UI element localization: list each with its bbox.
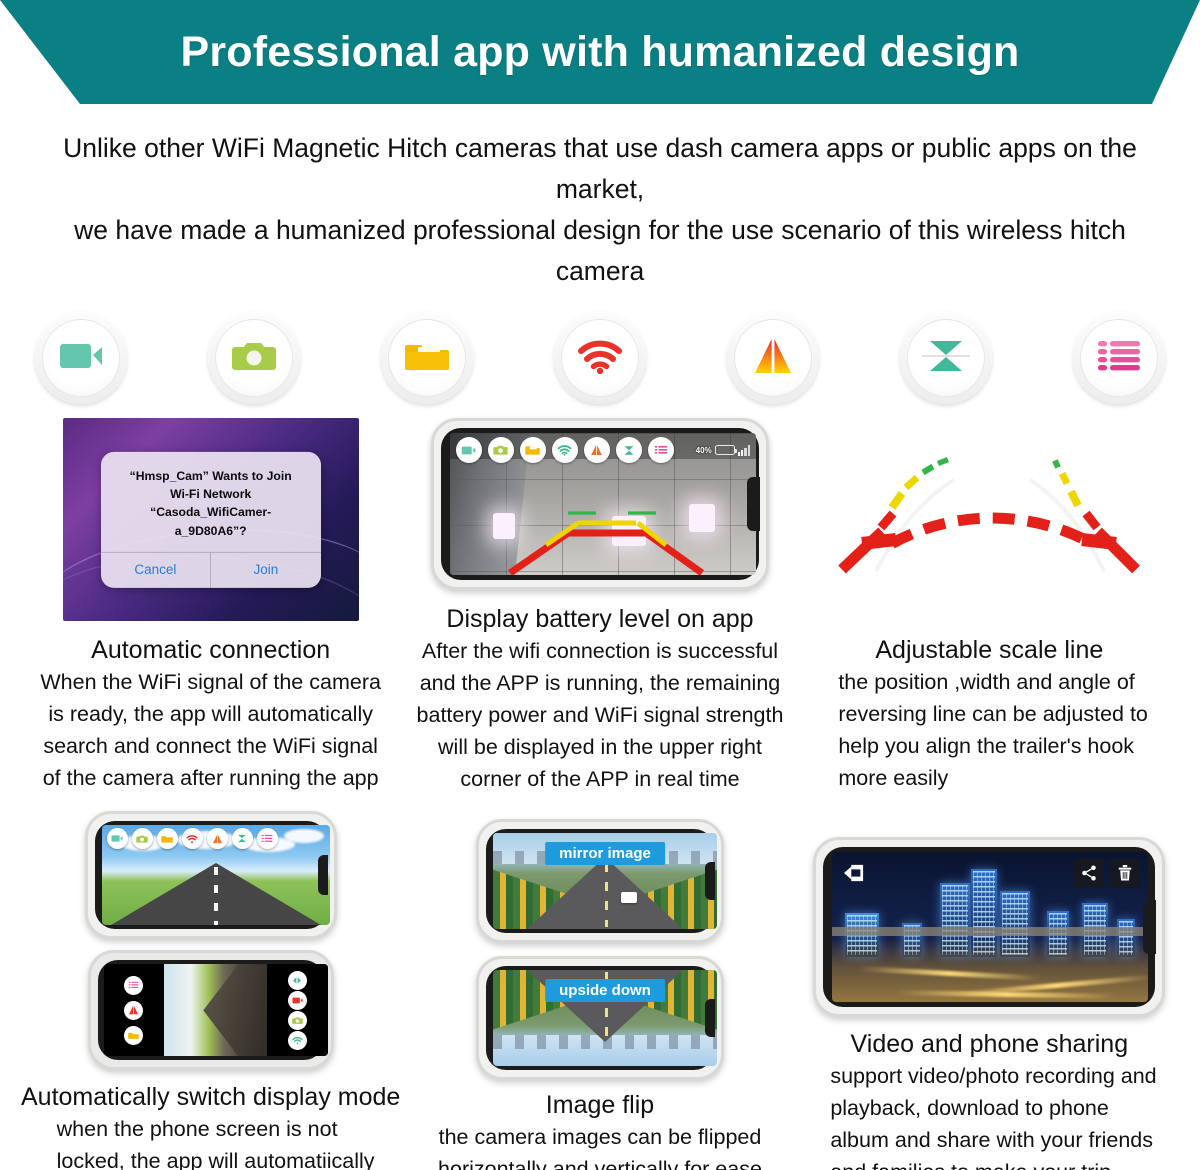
dialog-message-line-4: a_9D80A6”? [111,522,311,540]
phone-live-view: 40% [431,418,769,590]
phone-notch [318,855,328,895]
avenue-camera-image: mirror image [493,833,717,929]
feature-grid-row-2: Automatically switch display mode when t… [20,811,1180,1170]
card-body-video-phone-sharing: support video/photo recording and playba… [814,1061,1164,1170]
mini-scale-line-icon[interactable] [207,828,228,849]
app-icon-strip [102,825,330,852]
mirror-image-label: mirror image [545,842,665,865]
battery-icon [715,445,735,455]
card-body-image-flip: the camera images can be flipped horizon… [435,1122,765,1170]
phone-bezel: mirror image [486,829,714,933]
phone-notch [747,477,760,531]
card-title-display-battery-level: Display battery level on app [446,604,753,634]
card-body-auto-switch-display-mode: when the phone screen is not locked, the… [35,1114,387,1170]
icon-button-scale-line[interactable] [727,312,819,404]
battery-percent-label: 40% [696,446,712,455]
phone-device-mirror-image: mirror image [476,819,724,943]
display-mode-screenshots [85,811,337,1070]
phone-wallpaper: “Hmsp_Cam” Wants to Join Wi-Fi Network “… [63,418,359,621]
road-camera-image [102,825,330,925]
phone-device-playback [813,837,1165,1017]
dialog-message-line-2: Wi-Fi Network [111,485,311,503]
dialog-message-line-3: “Casoda_WifiCamer- [111,503,311,521]
bus-vehicle [621,892,637,903]
feature-icon-row [35,312,1165,404]
mini-wifi-signal-icon[interactable] [182,828,203,849]
left-control-column [104,964,164,1056]
app-icon-strip: 40% [450,433,756,467]
mini-settings-list-icon[interactable] [648,437,674,463]
card-title-auto-switch-display-mode: Automatically switch display mode [21,1082,400,1112]
cancel-button[interactable]: Cancel [101,553,212,588]
status-indicators: 40% [696,445,750,456]
page-title: Professional app with humanized design [180,28,1019,77]
card-auto-switch-display-mode: Automatically switch display mode when t… [20,811,401,1170]
phone-device-portrait-mode [88,950,334,1070]
phone-device-landscape-road [85,811,337,939]
icon-button-folder-album[interactable] [381,312,473,404]
phone-screen-mirror: mirror image [493,833,717,929]
card-display-battery-level: 40% Display batte [409,418,790,795]
card-title-image-flip: Image flip [546,1090,654,1120]
card-video-phone-sharing: Video and phone sharing support video/ph… [799,811,1180,1170]
phone-screen-portrait-ui [104,964,328,1056]
icon-button-settings-list[interactable] [1073,312,1165,404]
camera-photo-icon [231,338,277,379]
portrait-scale-line-icon[interactable] [124,1001,143,1020]
portrait-folder-album-icon[interactable] [124,1026,143,1045]
road-center-line [214,867,218,925]
card-adjustable-scale-line: Adjustable scale line the position ,widt… [799,418,1180,795]
portrait-camera-image [164,964,267,1056]
mini-folder-album-icon[interactable] [157,828,178,849]
phone-bezel: 40% [441,428,759,580]
phone-bezel [98,960,324,1060]
phone-screen-upside-down: upside down [493,970,717,1066]
wifi-signal-icon [576,338,624,379]
right-control-column [267,964,327,1056]
settings-list-icon [1096,339,1142,378]
card-automatic-connection: “Hmsp_Cam” Wants to Join Wi-Fi Network “… [20,418,401,795]
trash-delete-icon[interactable] [1110,858,1140,888]
intro-paragraph: Unlike other WiFi Magnetic Hitch cameras… [55,128,1145,292]
phone-notch [705,862,715,900]
card-title-automatic-connection: Automatic connection [91,635,330,665]
intro-line-2: we have made a humanized professional de… [55,210,1145,292]
card-body-adjustable-scale-line: the position ,width and angle of reversi… [824,667,1154,794]
mini-camera-photo-icon[interactable] [488,437,514,463]
playback-screenshot [813,837,1165,1017]
card-title-adjustable-scale-line: Adjustable scale line [875,635,1103,665]
feature-grid-row-1: “Hmsp_Cam” Wants to Join Wi-Fi Network “… [20,418,1180,795]
card-body-automatic-connection: When the WiFi signal of the camera is re… [38,667,383,794]
phone-bezel [95,821,327,929]
card-title-video-phone-sharing: Video and phone sharing [851,1029,1129,1059]
mini-wifi-signal-icon[interactable] [552,437,578,463]
city-night-photo [832,852,1148,1002]
icon-button-image-flip[interactable] [900,312,992,404]
phone-notch [1143,900,1156,954]
phone-device-upside-down: upside down [476,956,724,1080]
video-record-icon [58,339,104,378]
phone-screen-playback [832,852,1148,1002]
wifi-join-dialog[interactable]: “Hmsp_Cam” Wants to Join Wi-Fi Network “… [101,452,321,588]
dialog-message: “Hmsp_Cam” Wants to Join Wi-Fi Network “… [101,452,321,552]
card-image-flip: mirror image [409,811,790,1170]
scale-line-icon [751,337,795,380]
camera-live-image: 40% [450,433,756,575]
mini-camera-photo-icon[interactable] [132,828,153,849]
portrait-image-flip-icon[interactable] [288,971,307,990]
back-exit-icon[interactable] [839,858,869,888]
header-banner: Professional app with humanized design [0,0,1200,104]
portrait-mode-interface [104,964,328,1056]
card-body-display-battery-level: After the wifi connection is successful … [410,636,790,795]
join-button[interactable]: Join [211,553,321,588]
dialog-actions: Cancel Join [101,552,321,588]
intro-line-1: Unlike other WiFi Magnetic Hitch cameras… [55,128,1145,210]
mini-video-record-icon[interactable] [107,828,128,849]
dialog-message-line-1: “Hmsp_Cam” Wants to Join [111,467,311,485]
portrait-video-record-icon[interactable] [288,991,307,1010]
phone-screen-road [102,825,330,925]
image-flip-screenshots: mirror image [476,819,724,1080]
portrait-settings-list-icon[interactable] [124,976,143,995]
phone-screen: 40% [450,433,756,575]
phone-device-landscape: 40% [431,418,769,590]
image-flip-icon [921,334,971,383]
icon-button-wifi-signal[interactable] [554,312,646,404]
phone-bezel [823,847,1155,1007]
mini-folder-album-icon[interactable] [520,437,546,463]
mini-settings-list-icon[interactable] [257,828,278,849]
infographic-page: Professional app with humanized design U… [0,0,1200,1170]
mini-image-flip-icon[interactable] [232,828,253,849]
icon-button-video-record[interactable] [35,312,127,404]
portrait-camera-photo-icon[interactable] [288,1011,307,1030]
phone-notch [705,999,715,1037]
scale-line-illustration [824,418,1154,621]
mini-image-flip-icon[interactable] [616,437,642,463]
icon-button-camera-photo[interactable] [208,312,300,404]
portrait-wifi-signal-icon[interactable] [288,1031,307,1050]
folder-album-icon [404,338,450,379]
wifi-signal-bars-icon [738,445,750,456]
upside-down-label: upside down [545,979,665,1002]
mini-scale-line-icon[interactable] [584,437,610,463]
mini-video-record-icon[interactable] [456,437,482,463]
share-icon[interactable] [1074,858,1104,888]
wifi-join-screenshot: “Hmsp_Cam” Wants to Join Wi-Fi Network “… [63,418,359,621]
phone-bezel: upside down [486,966,714,1070]
scale-line-diagram [824,418,1154,593]
